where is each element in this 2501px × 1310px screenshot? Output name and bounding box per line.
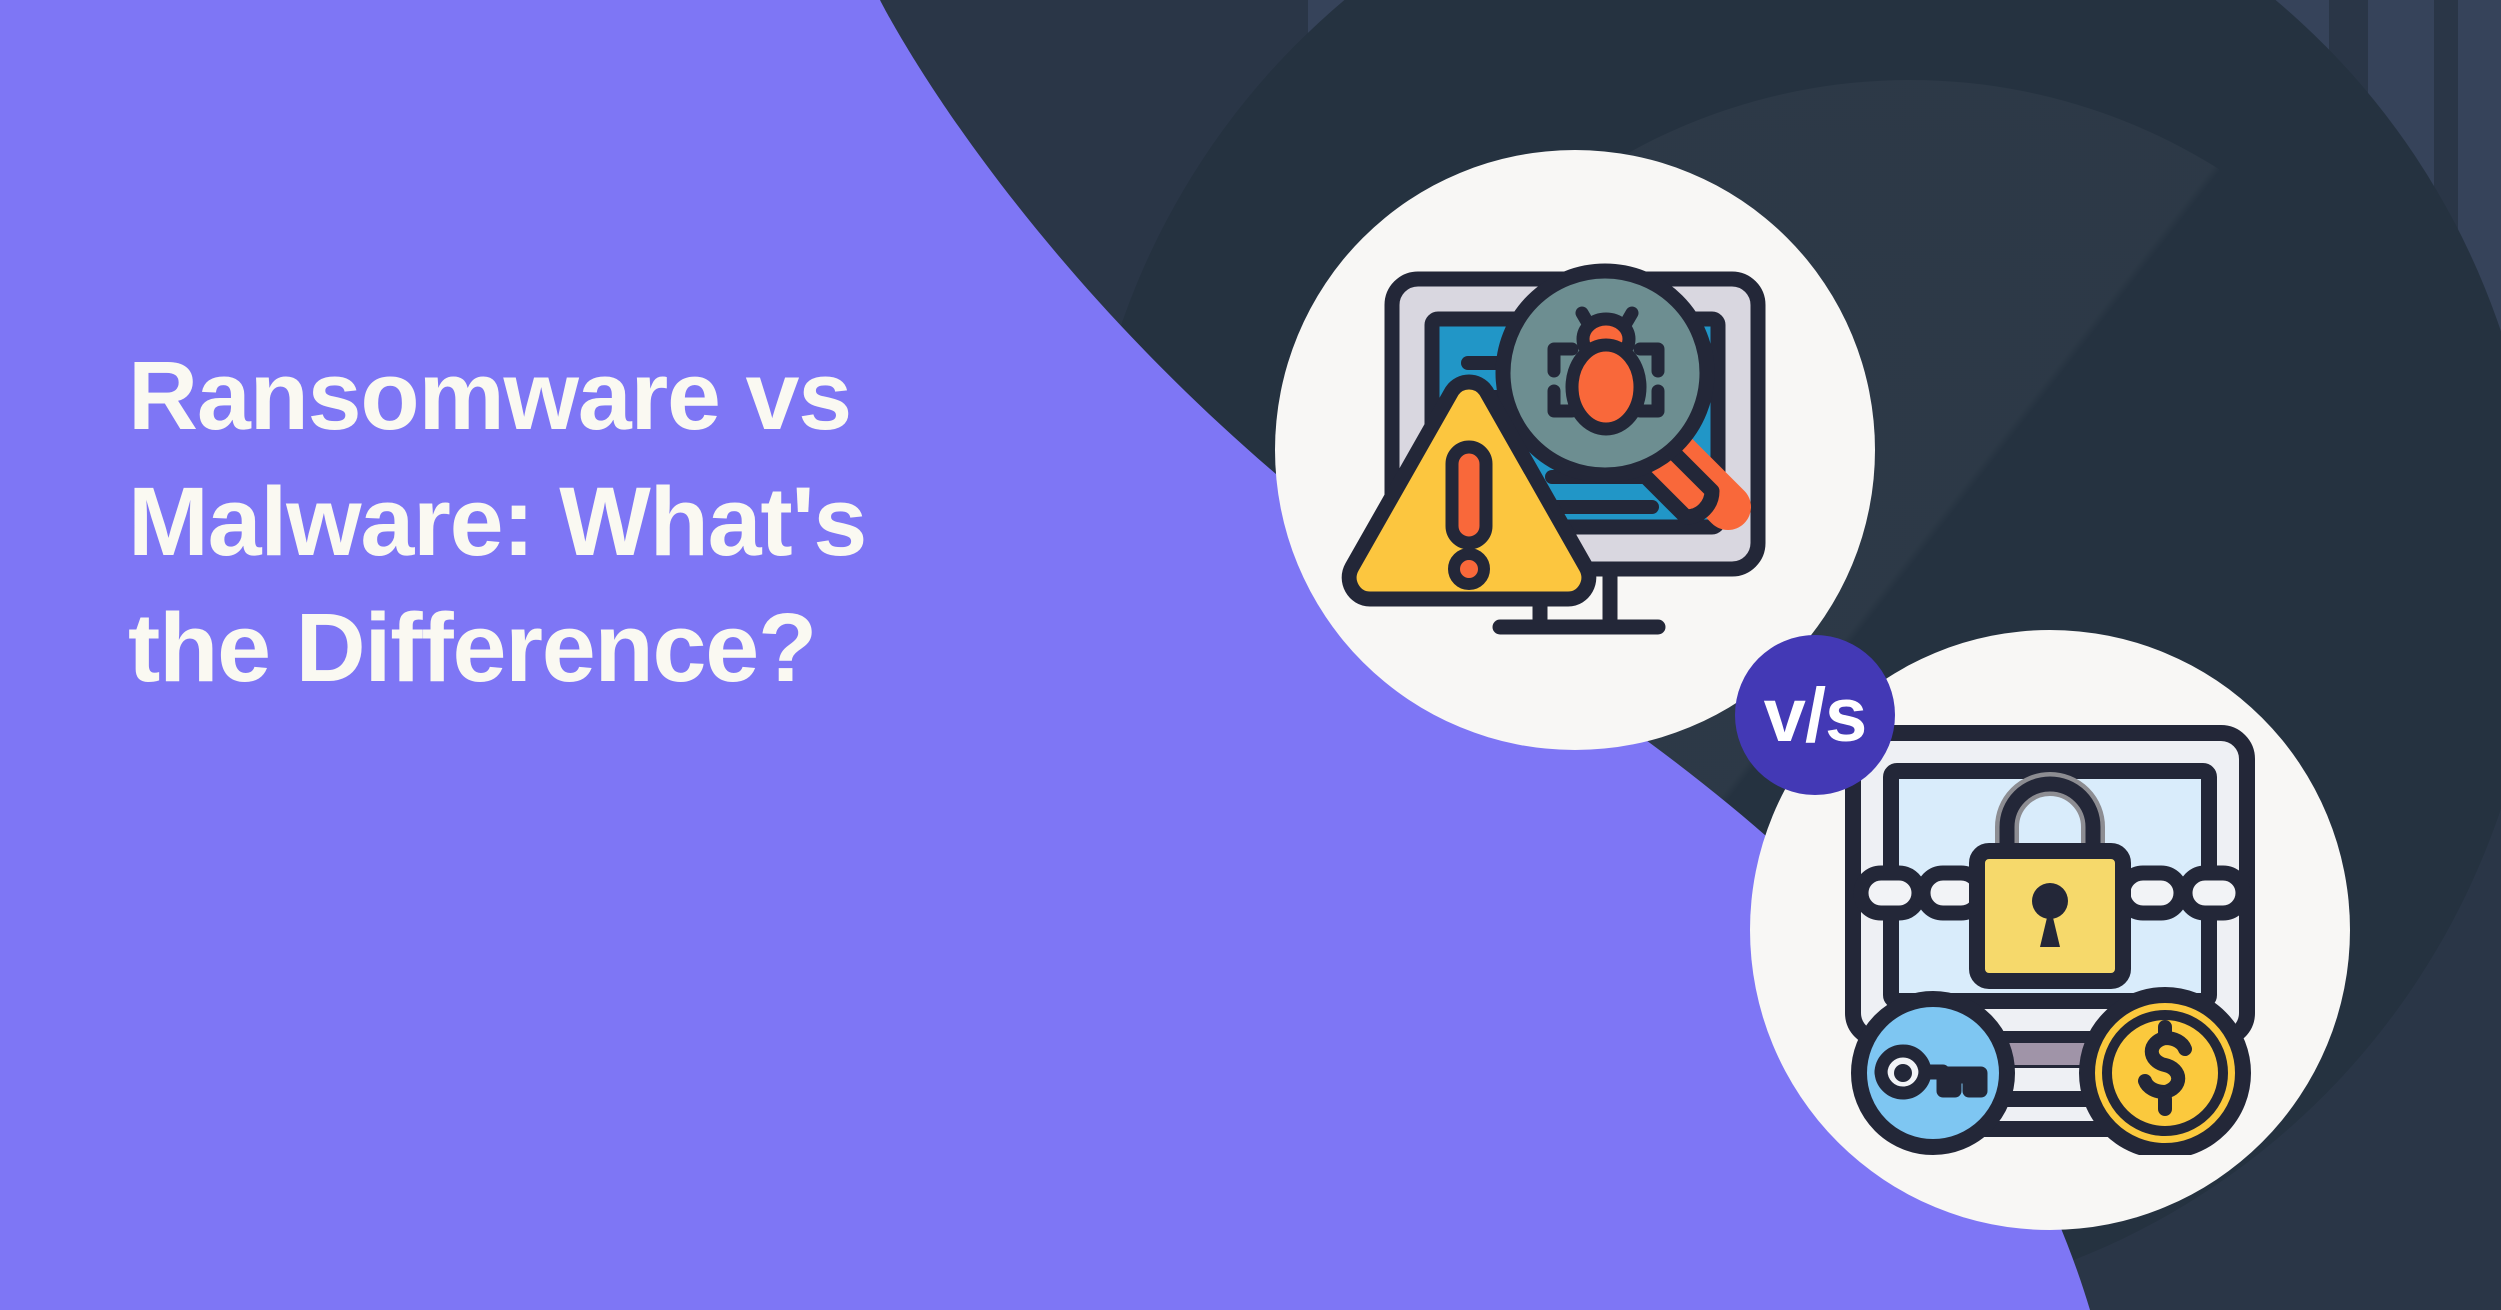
versus-badge: v/s <box>1735 635 1895 795</box>
page-title: Ransomware vs Malware: What's the Differ… <box>128 333 1138 711</box>
banner-canvas: Ransomware vs Malware: What's the Differ… <box>0 0 2501 1310</box>
